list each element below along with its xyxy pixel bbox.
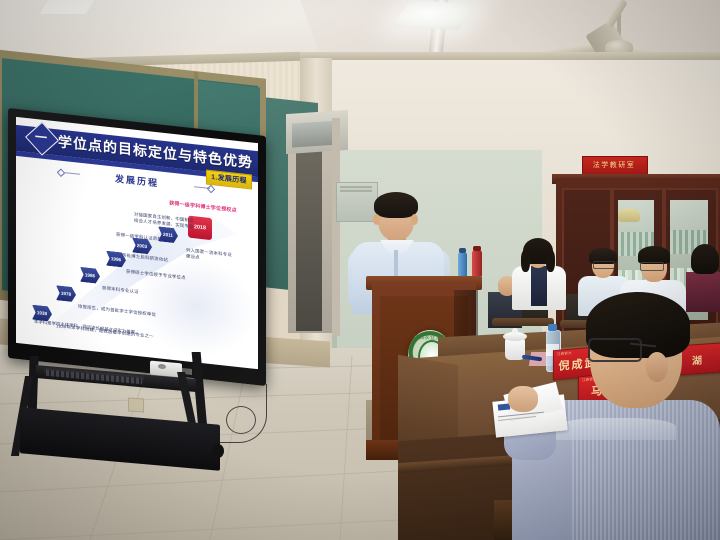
doorway-opening <box>296 146 322 331</box>
display-screen[interactable]: 一 学位点的目标定位与特色优势 1.发展历程 发展历程 获得一级学科博士学位授权… <box>16 117 258 369</box>
speaker-hair <box>374 192 418 218</box>
foreground-man-ear <box>646 352 668 382</box>
bottle-cap <box>459 248 466 253</box>
slide-highlight-note: 获得一级学科博士学位授权点 <box>166 199 240 214</box>
blue-water-bottle <box>458 252 467 278</box>
speaker-ear <box>411 214 418 225</box>
meeting-room-photo: 一 学位点的目标定位与特色优势 1.发展历程 发展历程 获得一级学科博士学位授权… <box>0 0 720 540</box>
speaker-ear <box>373 214 380 225</box>
slide-section-number: 一 <box>30 125 52 149</box>
cornice-right <box>300 52 720 60</box>
wall-socket <box>128 397 144 412</box>
bottle-cap <box>473 246 481 251</box>
attendee-3-glasses <box>640 262 664 271</box>
attendee-1-hair-side <box>521 250 530 272</box>
wall-plaque-text: 法学教研室 <box>582 160 646 170</box>
power-cable-loop <box>226 406 256 434</box>
subtitle-dot-right <box>207 185 215 193</box>
interactive-flat-panel[interactable]: 一 学位点的目标定位与特色优势 1.发展历程 发展历程 获得一级学科博士学位授权… <box>8 108 266 386</box>
attendee-1-hair-side <box>546 250 555 272</box>
attendee-2-glasses <box>593 261 615 269</box>
teacup-lid-knob <box>512 328 518 334</box>
name-placard-text: 湖 <box>678 351 718 369</box>
foreground-man-collar <box>556 418 676 440</box>
foreground-man-glasses <box>588 338 642 362</box>
fluorescent-light-secondary <box>40 0 94 14</box>
attendee-4-hair <box>691 244 719 274</box>
red-water-bottle <box>472 250 482 278</box>
attendee-4-torso <box>686 272 720 312</box>
door-jamb <box>332 118 340 336</box>
water-bottle-cap <box>548 324 557 331</box>
foreground-man-hand <box>508 386 538 412</box>
wall-vent-louvers <box>340 186 372 192</box>
straw-hat <box>618 208 640 222</box>
stand-caster-wheel <box>212 444 224 458</box>
chair-armrest <box>492 318 554 326</box>
timeline-node: 1986 <box>80 267 100 284</box>
attendee-1-inner-top <box>531 266 547 306</box>
device-indicator <box>158 364 166 370</box>
timeline-node: 1978 <box>56 285 76 302</box>
